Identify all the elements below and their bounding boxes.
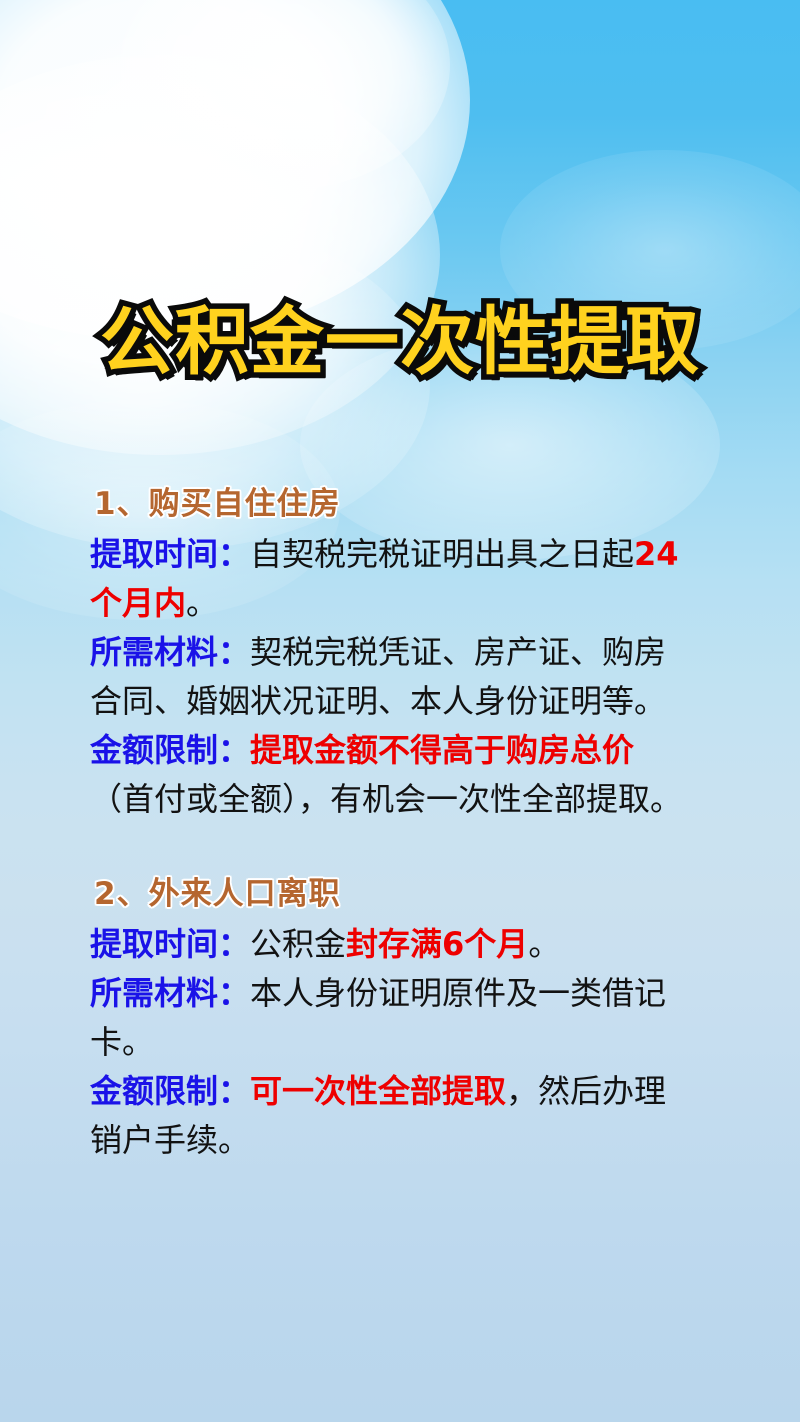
detail-row: 金额限制：可一次性全部提取，然后办理销户手续。 [90,1067,696,1165]
detail-row: 所需材料：契税完税凭证、房产证、购房合同、婚姻状况证明、本人身份证明等。 [90,628,696,726]
detail-text: 自契税完税证明出具之日起 [250,535,634,573]
poster-canvas: 公积金一次性提取 1、购买自住住房提取时间：自契税完税证明出具之日起24个月内。… [0,0,800,1422]
content-body: 1、购买自住住房提取时间：自契税完税证明出具之日起24个月内。所需材料：契税完税… [90,482,696,1165]
content-section: 1、购买自住住房提取时间：自契税完税证明出具之日起24个月内。所需材料：契税完税… [90,482,696,824]
highlight-text: 提取金额不得高于购房总价 [250,731,634,769]
detail-row: 金额限制：提取金额不得高于购房总价（首付或全额），有机会一次性全部提取。 [90,726,696,824]
detail-label: 提取时间： [90,535,250,573]
detail-text: 公积金 [250,925,346,963]
title-banner: 公积金一次性提取 [0,296,800,388]
detail-label: 金额限制： [90,1072,250,1110]
cloud-shape [0,0,470,340]
content-section: 2、外来人口离职提取时间：公积金封存满6个月。所需材料：本人身份证明原件及一类借… [90,872,696,1165]
detail-label: 提取时间： [90,925,250,963]
cloud-shape [120,0,450,190]
section-heading: 1、购买自住住房 [94,482,696,526]
detail-label: 所需材料： [90,633,250,671]
detail-row: 所需材料：本人身份证明原件及一类借记卡。 [90,969,696,1067]
detail-row: 提取时间：公积金封存满6个月。 [90,920,696,969]
detail-row: 提取时间：自契税完税证明出具之日起24个月内。 [90,530,696,628]
detail-text: 。 [186,584,218,622]
detail-text: 。 [528,925,560,963]
detail-label: 所需材料： [90,974,250,1012]
detail-text: （首付或全额），有机会一次性全部提取。 [90,780,682,818]
cloud-shape [0,55,440,455]
poster-title: 公积金一次性提取 [100,296,700,388]
section-heading: 2、外来人口离职 [94,872,696,916]
highlight-text: 封存满6个月 [346,925,528,963]
highlight-text: 可一次性全部提取 [250,1072,506,1110]
detail-label: 金额限制： [90,731,250,769]
